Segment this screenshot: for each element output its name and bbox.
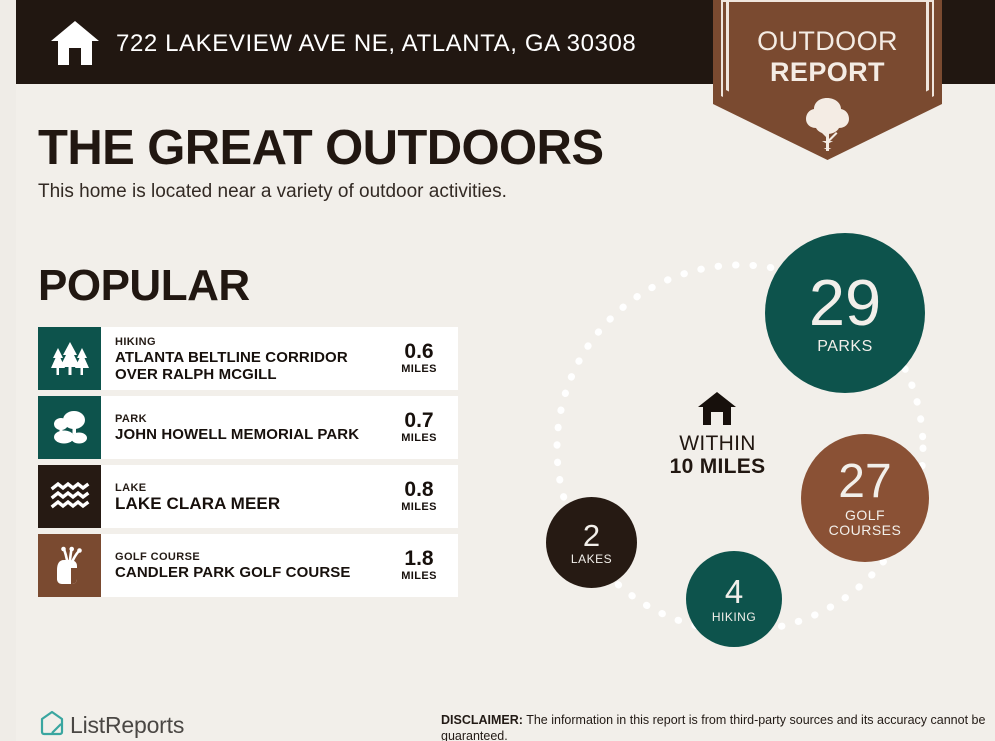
distance-value: 0.8 <box>388 479 450 501</box>
list-item-name-line2: OVER RALPH MCGILL <box>115 366 388 383</box>
badge-title-line1: OUTDOOR <box>757 26 898 56</box>
list-item-category: LAKE <box>115 481 388 495</box>
orbit-center-label-line1: WITHIN <box>620 432 815 456</box>
stat-value: 2 <box>583 520 600 551</box>
list-item-text: HIKING ATLANTA BELTLINE CORRIDOR OVER RA… <box>101 335 388 383</box>
badge-title: OUTDOOR REPORT <box>713 26 942 88</box>
distance-unit: MILES <box>388 363 450 376</box>
list-item[interactable]: PARK JOHN HOWELL MEMORIAL PARK 0.7 MILES <box>38 396 458 459</box>
distance-unit: MILES <box>388 501 450 514</box>
stat-label-line2: COURSES <box>829 523 902 538</box>
listreports-logo-text: ListReports <box>70 712 184 739</box>
distance-unit: MILES <box>388 570 450 583</box>
list-item-distance: 0.6 MILES <box>388 341 458 376</box>
park-trees-icon <box>38 396 101 459</box>
distance-value: 0.6 <box>388 341 450 363</box>
stat-value: 29 <box>809 270 881 335</box>
list-item-name-line1: CANDLER PARK GOLF COURSE <box>115 564 388 581</box>
stat-bubble-parks[interactable]: 29 PARKS <box>765 233 925 393</box>
outdoor-report-page: 722 LAKEVIEW AVE NE, ATLANTA, GA 30308 O… <box>0 0 995 741</box>
list-item-category: HIKING <box>115 335 388 349</box>
stat-bubble-lakes[interactable]: 2 LAKES <box>546 497 637 588</box>
list-item[interactable]: HIKING ATLANTA BELTLINE CORRIDOR OVER RA… <box>38 327 458 390</box>
list-item-category: GOLF COURSE <box>115 550 388 564</box>
water-waves-icon <box>38 465 101 528</box>
list-item[interactable]: GOLF COURSE CANDLER PARK GOLF COURSE 1.8… <box>38 534 458 597</box>
orbit-center-label-line2: 10 MILES <box>620 455 815 479</box>
list-item-category: PARK <box>115 412 388 426</box>
list-item-distance: 1.8 MILES <box>388 548 458 583</box>
list-item-name-line1: ATLANTA BELTLINE CORRIDOR <box>115 349 388 366</box>
pine-trees-icon <box>38 327 101 390</box>
stat-label: PARKS <box>817 339 873 356</box>
stat-value: 4 <box>725 575 743 608</box>
list-item-text: PARK JOHN HOWELL MEMORIAL PARK <box>101 412 388 443</box>
distance-unit: MILES <box>388 432 450 445</box>
list-item[interactable]: LAKE LAKE CLARA MEER 0.8 MILES <box>38 465 458 528</box>
disclaimer-label: DISCLAIMER: <box>441 713 523 727</box>
house-icon <box>697 391 737 427</box>
distance-value: 0.7 <box>388 410 450 432</box>
popular-heading: POPULAR <box>38 261 250 311</box>
list-item-text: GOLF COURSE CANDLER PARK GOLF COURSE <box>101 550 388 581</box>
listreports-house-logo-icon <box>39 710 65 736</box>
stat-label: LAKES <box>571 553 612 566</box>
list-item-distance: 0.8 MILES <box>388 479 458 514</box>
property-address: 722 LAKEVIEW AVE NE, ATLANTA, GA 30308 <box>116 30 636 58</box>
tree-icon <box>800 96 855 152</box>
page-title: THE GREAT OUTDOORS <box>38 120 603 176</box>
stat-label-line1: GOLF <box>845 508 885 523</box>
stat-bubble-golf-courses[interactable]: 27 GOLF COURSES <box>801 434 929 562</box>
stat-label: HIKING <box>712 611 756 624</box>
house-icon <box>49 19 101 67</box>
stat-bubble-hiking[interactable]: 4 HIKING <box>686 551 782 647</box>
left-edge-stripe <box>0 0 16 741</box>
list-item-distance: 0.7 MILES <box>388 410 458 445</box>
badge-title-line2: REPORT <box>770 57 885 87</box>
list-item-text: LAKE LAKE CLARA MEER <box>101 481 388 512</box>
page-subtitle: This home is located near a variety of o… <box>38 181 507 203</box>
distance-value: 1.8 <box>388 548 450 570</box>
disclaimer-text: The information in this report is from t… <box>441 713 985 741</box>
list-item-name-line1: LAKE CLARA MEER <box>115 495 388 512</box>
disclaimer: DISCLAIMER: The information in this repo… <box>441 712 986 741</box>
list-item-name-line1: JOHN HOWELL MEMORIAL PARK <box>115 426 388 443</box>
stat-value: 27 <box>838 458 891 506</box>
golf-bag-icon <box>38 534 101 597</box>
popular-poi-list: HIKING ATLANTA BELTLINE CORRIDOR OVER RA… <box>38 327 458 603</box>
